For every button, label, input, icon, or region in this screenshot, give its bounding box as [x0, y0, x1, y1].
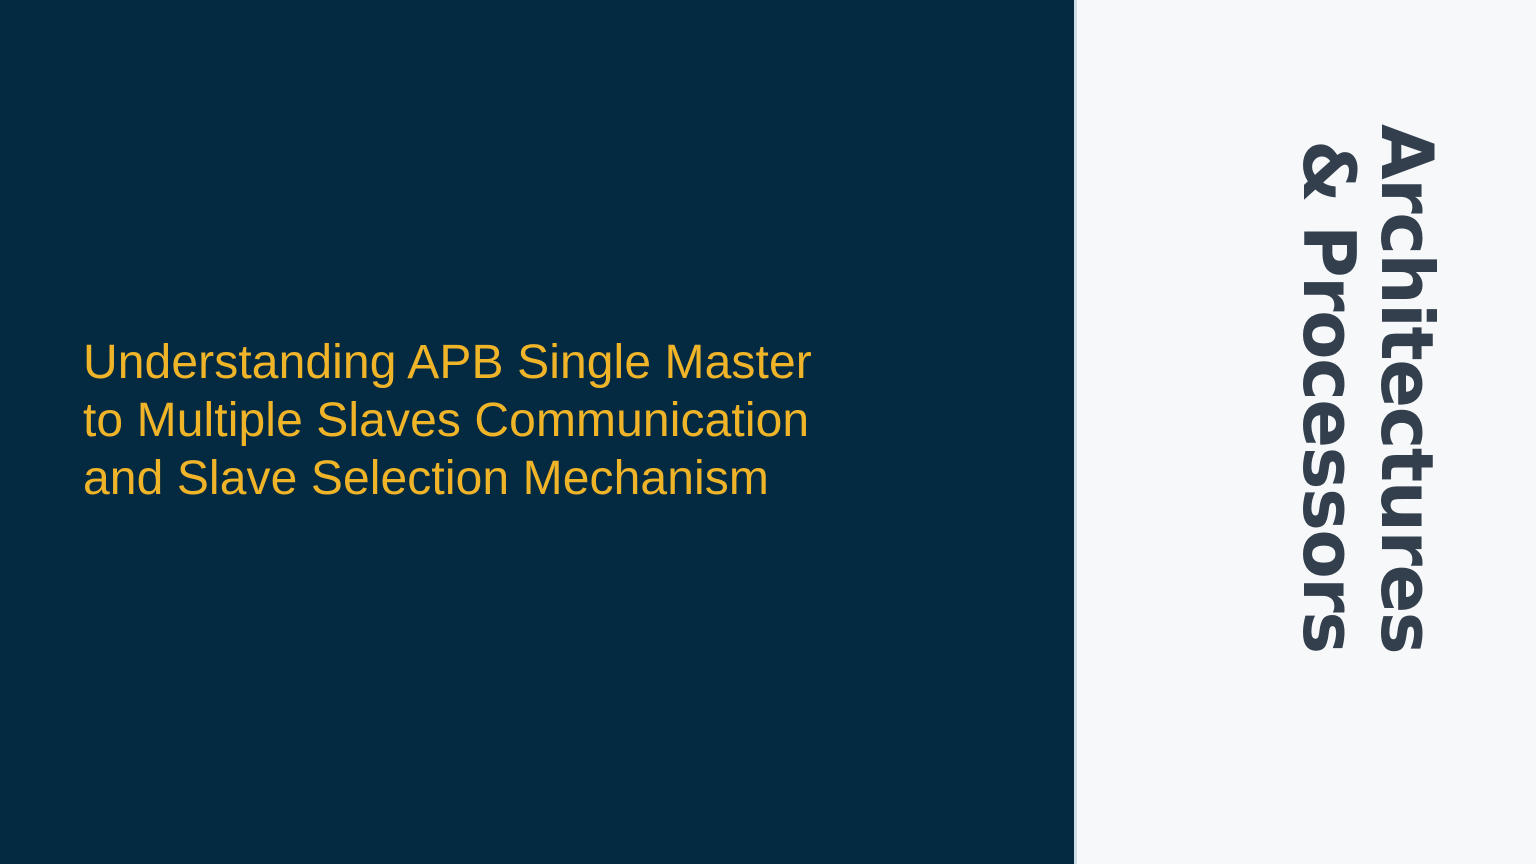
title-line-1: Understanding APB Single Master [83, 334, 1014, 392]
title-line-3: and Slave Selection Mechanism [83, 450, 1014, 508]
title-line-2: to Multiple Slaves Communication [83, 392, 1014, 450]
category-panel: Architectures & Processors [1077, 0, 1536, 864]
category-label-processors: & Processors [1293, 140, 1365, 653]
title-panel: Understanding APB Single Master to Multi… [0, 0, 1074, 864]
slide-title: Understanding APB Single Master to Multi… [0, 334, 1074, 508]
slide-canvas: Understanding APB Single Master to Multi… [0, 0, 1536, 864]
category-label-stack: Architectures & Processors [1077, 0, 1536, 864]
category-label-architectures: Architectures [1371, 124, 1443, 653]
